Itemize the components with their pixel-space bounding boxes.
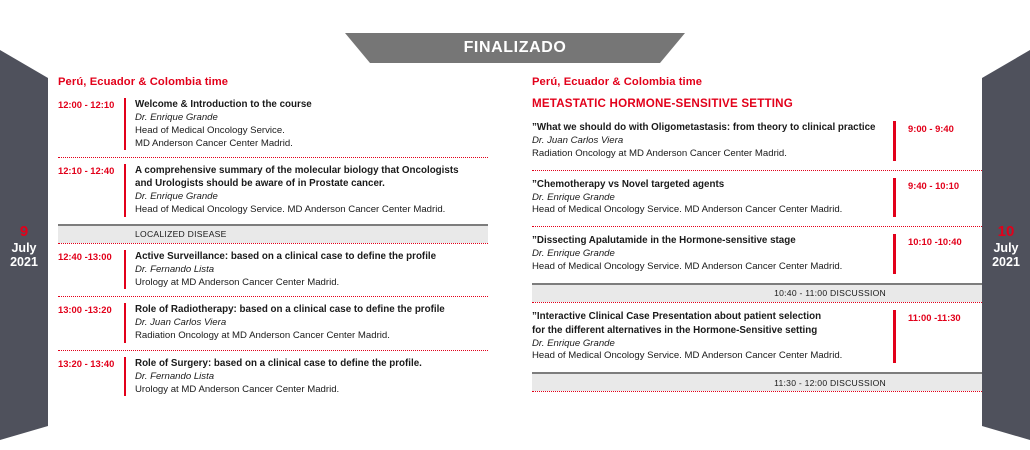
session-affiliation: Radiation Oncology at MD Anderson Cancer… xyxy=(135,330,488,343)
date-left-year: 2021 xyxy=(0,255,48,269)
session-affiliation: Head of Medical Oncology Service. MD And… xyxy=(532,204,883,217)
session-accent-bar xyxy=(124,164,126,217)
session-time: 9:40 - 10:10 xyxy=(908,178,982,191)
discussion-strip-1: 10:40 - 11:00 DISCUSSION xyxy=(532,283,982,302)
session-accent-bar xyxy=(893,121,896,161)
session-title: ”What we should do with Oligometastasis:… xyxy=(532,121,883,134)
agenda-column-day9: Perú, Ecuador & Colombia time 12:00 - 12… xyxy=(58,76,488,403)
session-accent-bar xyxy=(124,357,126,397)
timezone-label-right: Perú, Ecuador & Colombia time xyxy=(532,76,982,88)
session-title: ”Chemotherapy vs Novel targeted agents xyxy=(532,178,883,191)
session-speaker: Dr. Enrique Grande xyxy=(532,192,883,205)
bottom-dotted-rule xyxy=(532,391,982,392)
date-right-stack: 10 July 2021 xyxy=(982,224,1030,269)
session-body: Active Surveillance: based on a clinical… xyxy=(135,250,488,290)
session-title: ”Dissecting Apalutamide in the Hormone-s… xyxy=(532,234,883,247)
session-speaker: Dr. Enrique Grande xyxy=(532,338,883,351)
session-body: Role of Surgery: based on a clinical cas… xyxy=(135,357,488,397)
agenda-column-day10: Perú, Ecuador & Colombia time METASTATIC… xyxy=(532,76,982,392)
session-speaker: Dr. Fernando Lista xyxy=(135,264,488,277)
session-accent-bar xyxy=(893,178,896,218)
session-title: A comprehensive summary of the molecular… xyxy=(135,164,488,177)
session-row: 13:00 -13:20 Role of Radiotherapy: based… xyxy=(58,296,488,350)
date-right-day: 10 xyxy=(982,224,1030,241)
session-row: 12:40 -13:00 Active Surveillance: based … xyxy=(58,243,488,297)
session-time: 12:00 - 12:10 xyxy=(58,98,124,110)
session-row: 12:10 - 12:40 A comprehensive summary of… xyxy=(58,157,488,224)
session-row: ”What we should do with Oligometastasis:… xyxy=(532,119,982,170)
session-affiliation: Urology at MD Anderson Cancer Center Mad… xyxy=(135,277,488,290)
session-speaker: Dr. Juan Carlos Viera xyxy=(532,135,883,148)
session-body: A comprehensive summary of the molecular… xyxy=(135,164,488,217)
session-affiliation: Urology at MD Anderson Cancer Center Mad… xyxy=(135,384,488,397)
session-accent-bar xyxy=(124,303,126,343)
date-left-day: 9 xyxy=(0,224,48,241)
session-row: 13:20 - 13:40 Role of Surgery: based on … xyxy=(58,350,488,404)
date-right-year: 2021 xyxy=(982,255,1030,269)
session-accent-bar xyxy=(124,250,126,290)
session-accent-bar xyxy=(893,310,896,364)
timezone-label-left: Perú, Ecuador & Colombia time xyxy=(58,76,488,88)
session-accent-bar xyxy=(124,98,126,150)
session-body: ”Chemotherapy vs Novel targeted agents D… xyxy=(532,178,893,218)
session-speaker: Dr. Enrique Grande xyxy=(532,248,883,261)
status-banner-label: FINALIZADO xyxy=(464,39,567,57)
date-left-stack: 9 July 2021 xyxy=(0,224,48,269)
session-time: 12:10 - 12:40 xyxy=(58,164,124,176)
discussion-strip-label: 11:30 - 12:00 DISCUSSION xyxy=(774,378,886,388)
session-body: ”What we should do with Oligometastasis:… xyxy=(532,121,893,161)
session-title: ”Interactive Clinical Case Presentation … xyxy=(532,310,883,323)
agenda-canvas: 9 July 2021 10 July 2021 FINALIZADO Perú… xyxy=(0,0,1030,450)
session-body: ”Dissecting Apalutamide in the Hormone-s… xyxy=(532,234,893,274)
session-time: 9:00 - 9:40 xyxy=(908,121,982,134)
date-panel-left: 9 July 2021 xyxy=(0,48,48,440)
session-speaker: Dr. Enrique Grande xyxy=(135,112,488,125)
date-left-month: July xyxy=(0,241,48,255)
section-heading-metastatic: METASTATIC HORMONE-SENSITIVE SETTING xyxy=(532,97,982,110)
section-strip-localized-disease: LOCALIZED DISEASE xyxy=(58,224,488,243)
date-right-month: July xyxy=(982,241,1030,255)
session-speaker: Dr. Fernando Lista xyxy=(135,371,488,384)
session-row: ”Dissecting Apalutamide in the Hormone-s… xyxy=(532,226,982,283)
session-affiliation: MD Anderson Cancer Center Madrid. xyxy=(135,138,488,151)
session-row: ”Chemotherapy vs Novel targeted agents D… xyxy=(532,170,982,227)
session-title: Active Surveillance: based on a clinical… xyxy=(135,250,488,263)
session-title: and Urologists should be aware of in Pro… xyxy=(135,177,488,190)
sessions-list-left-bottom: 12:40 -13:00 Active Surveillance: based … xyxy=(58,243,488,404)
session-affiliation: Head of Medical Oncology Service. MD And… xyxy=(532,350,883,363)
session-row: 12:00 - 12:10 Welcome & Introduction to … xyxy=(58,97,488,157)
session-row: ”Interactive Clinical Case Presentation … xyxy=(532,302,982,373)
session-time: 13:20 - 13:40 xyxy=(58,357,124,369)
session-title: Role of Radiotherapy: based on a clinica… xyxy=(135,303,488,316)
sessions-list-left-top: 12:00 - 12:10 Welcome & Introduction to … xyxy=(58,97,488,224)
session-body: Role of Radiotherapy: based on a clinica… xyxy=(135,303,488,343)
session-body: ”Interactive Clinical Case Presentation … xyxy=(532,310,893,364)
sessions-list-right-top: ”What we should do with Oligometastasis:… xyxy=(532,119,982,283)
date-panel-right: 10 July 2021 xyxy=(982,48,1030,440)
session-time: 13:00 -13:20 xyxy=(58,303,124,315)
status-banner: FINALIZADO xyxy=(345,33,685,63)
session-time: 10:10 -10:40 xyxy=(908,234,982,247)
session-affiliation: Head of Medical Oncology Service. xyxy=(135,125,488,138)
session-affiliation: Radiation Oncology at MD Anderson Cancer… xyxy=(532,148,883,161)
session-accent-bar xyxy=(893,234,896,274)
session-title: Role of Surgery: based on a clinical cas… xyxy=(135,357,488,370)
session-title: Welcome & Introduction to the course xyxy=(135,98,488,111)
session-time: 12:40 -13:00 xyxy=(58,250,124,262)
session-body: Welcome & Introduction to the course Dr.… xyxy=(135,98,488,150)
discussion-strip-label: 10:40 - 11:00 DISCUSSION xyxy=(774,288,886,298)
session-time: 11:00 -11:30 xyxy=(908,310,982,323)
session-affiliation: Head of Medical Oncology Service. MD And… xyxy=(135,204,488,217)
discussion-strip-2: 11:30 - 12:00 DISCUSSION xyxy=(532,372,982,391)
session-speaker: Dr. Juan Carlos Viera xyxy=(135,317,488,330)
session-speaker: Dr. Enrique Grande xyxy=(135,191,488,204)
sessions-list-right-bottom: ”Interactive Clinical Case Presentation … xyxy=(532,302,982,373)
session-affiliation: Head of Medical Oncology Service. MD And… xyxy=(532,261,883,274)
section-strip-label: LOCALIZED DISEASE xyxy=(135,229,227,239)
session-title: for the different alternatives in the Ho… xyxy=(532,324,883,337)
